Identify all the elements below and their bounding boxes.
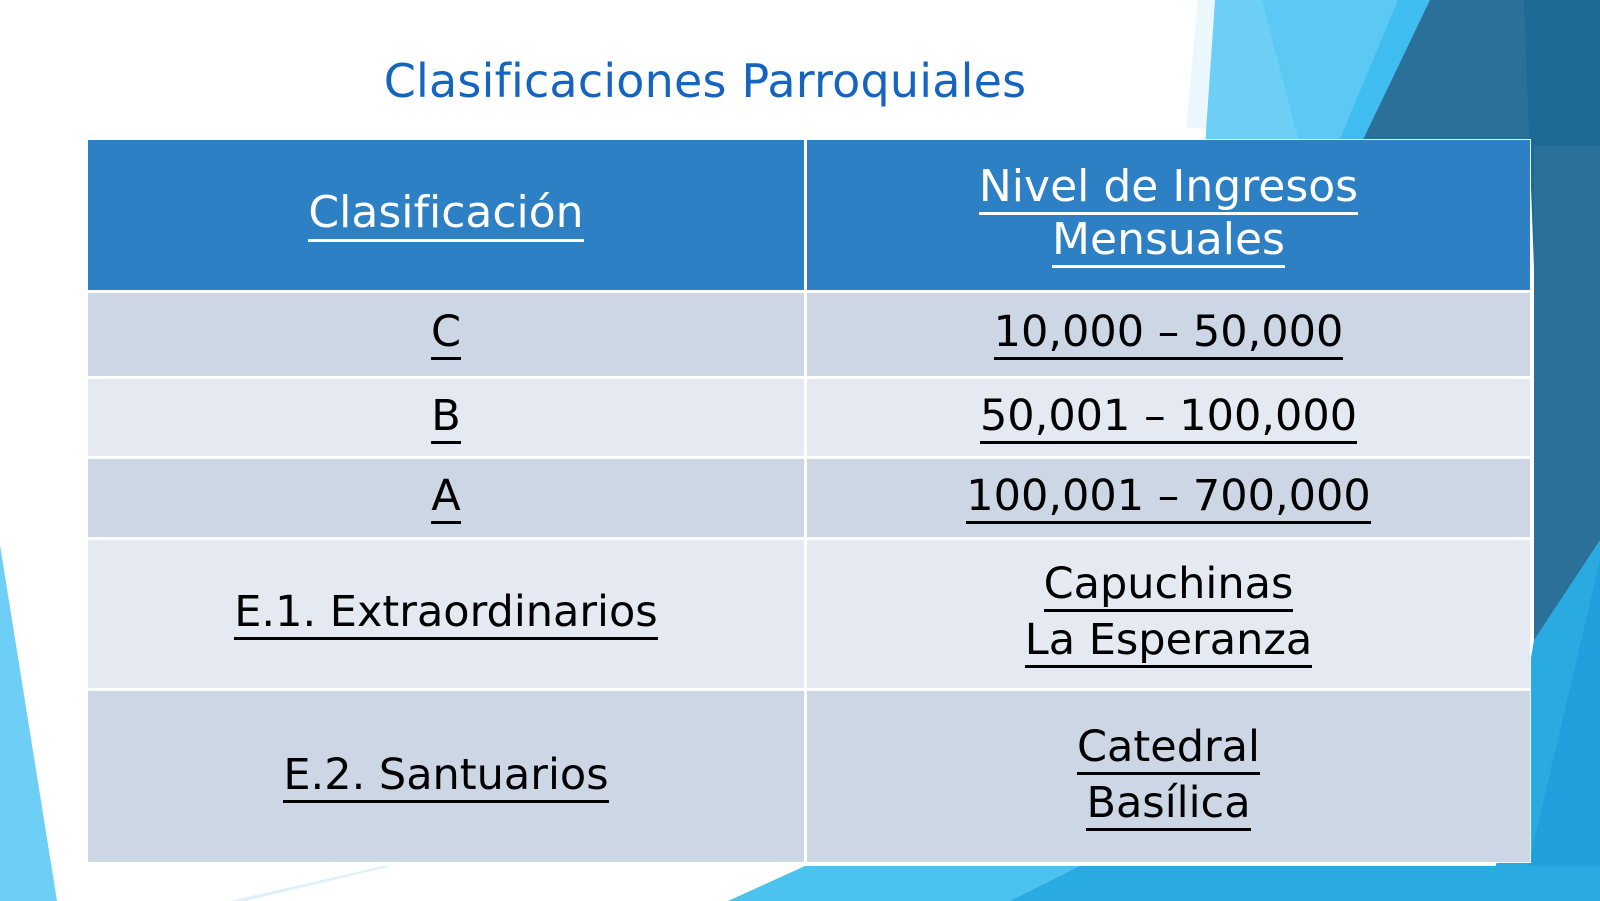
cell-nivel-text-line-2: La Esperanza	[1025, 616, 1313, 668]
table-header: Clasificación Nivel de Ingresos Mensuale…	[88, 140, 1530, 293]
cell-nivel: Capuchinas La Esperanza	[807, 540, 1530, 691]
classification-table-wrapper: Clasificación Nivel de Ingresos Mensuale…	[88, 140, 1530, 862]
cell-nivel: 100,001 – 700,000	[807, 459, 1530, 540]
cell-clasificacion: E.2. Santuarios	[88, 691, 807, 862]
cell-nivel: 50,001 – 100,000	[807, 379, 1530, 460]
table-row: A 100,001 – 700,000	[88, 459, 1530, 540]
cell-clasificacion: B	[88, 379, 807, 460]
table-row: B 50,001 – 100,000	[88, 379, 1530, 460]
slide-canvas: Clasificaciones Parroquiales Clasificaci…	[0, 0, 1600, 901]
cell-nivel-text: 50,001 – 100,000	[980, 392, 1357, 444]
decor-shape-top-deepblue	[1524, 0, 1600, 268]
column-header-clasificacion: Clasificación	[88, 140, 807, 293]
column-header-clasificacion-line-1: Clasificación	[308, 188, 583, 241]
cell-nivel: 10,000 – 50,000	[807, 293, 1530, 379]
decor-shape-bottom-pale-line	[230, 866, 392, 901]
cell-clasificacion: E.1. Extraordinarios	[88, 540, 807, 691]
table-header-row: Clasificación Nivel de Ingresos Mensuale…	[88, 140, 1530, 293]
cell-nivel-text: 10,000 – 50,000	[994, 308, 1344, 360]
cell-nivel-text-line-1: Capuchinas	[1044, 560, 1294, 612]
column-header-nivel-line-1: Nivel de Ingresos	[979, 162, 1358, 215]
cell-nivel-text: 100,001 – 700,000	[966, 472, 1370, 524]
cell-clasificacion-text: C	[431, 308, 461, 360]
cell-nivel: Catedral Basílica	[807, 691, 1530, 862]
table-row: E.2. Santuarios Catedral Basílica	[88, 691, 1530, 862]
cell-nivel-text-line-2: Basílica	[1086, 779, 1250, 831]
cell-nivel-text-line-1: Catedral	[1077, 723, 1260, 775]
cell-clasificacion-text: A	[431, 472, 460, 524]
column-header-nivel-line-2: Mensuales	[1052, 215, 1285, 268]
table-body: C 10,000 – 50,000 B 50,001 – 100,000	[88, 293, 1530, 862]
decor-shape-right-strip	[1534, 146, 1600, 660]
page-title: Clasificaciones Parroquiales	[0, 56, 1410, 107]
decor-shape-bottomleft-cyan	[0, 545, 57, 901]
cell-clasificacion: C	[88, 293, 807, 379]
decor-shape-bottom-midcyan	[1010, 866, 1600, 901]
cell-clasificacion-text: E.1. Extraordinarios	[234, 588, 657, 640]
cell-clasificacion-text: B	[431, 392, 461, 444]
decor-shape-bottom-cyan	[728, 866, 1600, 901]
cell-clasificacion-text: E.2. Santuarios	[283, 751, 608, 803]
column-header-nivel-ingresos: Nivel de Ingresos Mensuales	[807, 140, 1530, 293]
classification-table: Clasificación Nivel de Ingresos Mensuale…	[88, 140, 1530, 862]
table-row: E.1. Extraordinarios Capuchinas La Esper…	[88, 540, 1530, 691]
cell-clasificacion: A	[88, 459, 807, 540]
table-row: C 10,000 – 50,000	[88, 293, 1530, 379]
decor-shape-right-cyan-dark	[1520, 560, 1600, 901]
